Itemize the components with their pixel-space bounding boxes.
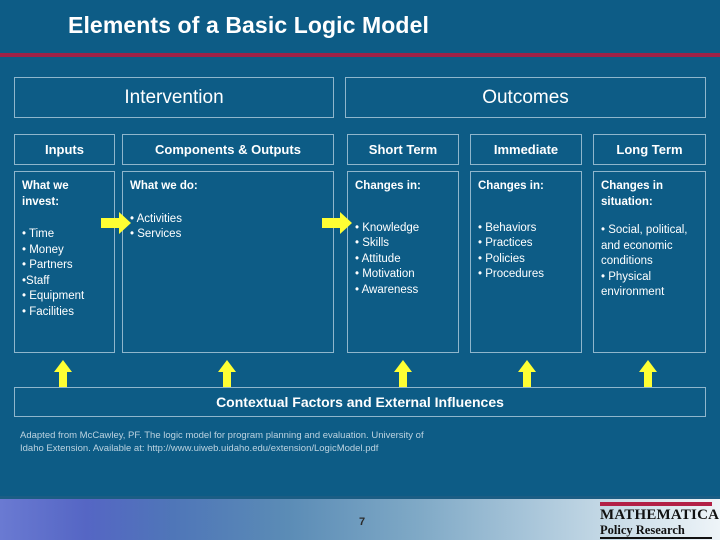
column-body-long-term: Changes in situation: • Social, politica… [593,171,706,353]
logo-tagline: Policy Research [600,523,712,539]
list-item: • Activities [130,212,327,228]
context-arrow-up-icon [218,360,236,390]
context-bar: Contextual Factors and External Influenc… [14,387,706,417]
slide-footer: 7 MATHEMATICA Policy Research [0,496,720,540]
mathematica-logo: MATHEMATICA Policy Research [600,502,712,539]
column-body-inputs-heading: What we invest: [22,179,108,210]
logo-name: MATHEMATICA [600,507,712,523]
column-header-components-outputs: Components & Outputs [122,134,334,165]
list-item: • Social, political, and economic condit… [601,223,699,270]
flow-arrow-right-icon [101,212,131,234]
column-header-inputs: Inputs [14,134,115,165]
list-item: • Physical environment [601,270,699,301]
logo-accent-bar [600,502,712,506]
column-header-short-term: Short Term [347,134,459,165]
list-item: • Money [22,243,108,259]
column-header-immediate-label: Immediate [494,142,558,157]
column-body-long-term-list: • Social, political, and economic condit… [601,223,699,301]
group-header-outcomes-label: Outcomes [482,87,569,109]
list-item: • Motivation [355,267,452,283]
list-item: • Skills [355,236,452,252]
context-arrow-up-icon [54,360,72,390]
column-body-components-outputs-heading: What we do: [130,179,327,195]
list-item: • Behaviors [478,221,575,237]
list-item: • Knowledge [355,221,452,237]
page-title: Elements of a Basic Logic Model [68,12,429,39]
column-header-components-outputs-label: Components & Outputs [155,142,301,157]
list-item: • Services [130,227,327,243]
list-item: • Procedures [478,267,575,283]
list-item: • Facilities [22,305,108,321]
title-band: Elements of a Basic Logic Model [0,0,720,53]
context-arrow-up-icon [394,360,412,390]
column-body-immediate-list: • Behaviors • Practices • Policies • Pro… [478,221,575,283]
column-header-inputs-label: Inputs [45,142,84,157]
column-body-short-term-list: • Knowledge • Skills • Attitude • Motiva… [355,221,452,299]
page-number: 7 [359,516,365,528]
context-arrow-up-icon [639,360,657,390]
context-bar-label: Contextual Factors and External Influenc… [216,394,504,410]
column-body-long-term-heading: Changes in situation: [601,179,699,210]
column-header-immediate: Immediate [470,134,582,165]
column-body-components-outputs: What we do: • Activities • Services [122,171,334,353]
list-item: • Policies [478,252,575,268]
column-header-short-term-label: Short Term [369,142,437,157]
context-arrow-up-icon [518,360,536,390]
column-body-immediate-heading: Changes in: [478,179,575,195]
group-header-intervention: Intervention [14,77,334,118]
group-header-intervention-label: Intervention [124,87,223,109]
list-item: • Time [22,227,108,243]
list-item: • Awareness [355,283,452,299]
slide: Elements of a Basic Logic Model Interven… [0,0,720,540]
column-body-short-term: Changes in: • Knowledge • Skills • Attit… [347,171,459,353]
list-item: • Attitude [355,252,452,268]
list-item: • Equipment [22,289,108,305]
list-item: • Partners [22,258,108,274]
group-header-outcomes: Outcomes [345,77,706,118]
footer-top-edge [0,496,720,499]
column-body-components-outputs-list: • Activities • Services [130,212,327,243]
column-body-inputs: What we invest: • Time • Money • Partner… [14,171,115,353]
column-body-inputs-list: • Time • Money • Partners •Staff • Equip… [22,227,108,320]
flow-arrow-right-icon [322,212,352,234]
title-divider [0,53,720,57]
column-header-long-term-label: Long Term [616,142,682,157]
list-item: • Practices [478,236,575,252]
column-body-short-term-heading: Changes in: [355,179,452,195]
column-body-immediate: Changes in: • Behaviors • Practices • Po… [470,171,582,353]
column-header-long-term: Long Term [593,134,706,165]
source-footnote: Adapted from McCawley, PF. The logic mod… [20,430,620,455]
list-item: •Staff [22,274,108,290]
